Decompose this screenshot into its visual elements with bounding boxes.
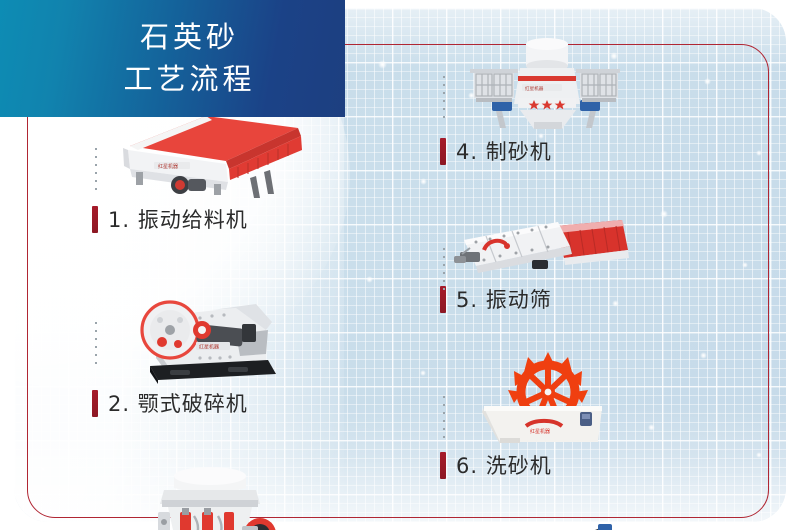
flow-step-5[interactable]: 5. 振动筛: [440, 210, 740, 316]
marker-bar-6: [440, 452, 446, 479]
flow-step-6-label: 6. 洗砂机: [440, 448, 740, 482]
connector-dots-2: [95, 322, 97, 368]
flow-step-1[interactable]: 红星机器 1. 振动给料机: [92, 110, 392, 236]
banner-title-line1: 石英砂: [140, 17, 239, 58]
flow-step-6-text: 6. 洗砂机: [456, 450, 552, 480]
title-banner: 石英砂 工艺流程: [0, 0, 345, 117]
flow-step-7[interactable]: 7. 输送机: [440, 522, 740, 530]
marker-bar-1: [92, 206, 98, 233]
flow-step-5-label: 5. 振动筛: [440, 282, 740, 316]
flow-step-3[interactable]: 3. 圆锥破碎机: [92, 466, 392, 530]
connector-dots-5: [443, 248, 445, 290]
connector-dots-6: [443, 396, 445, 438]
flow-step-2-text: 2. 颚式破碎机: [108, 388, 248, 418]
banner-title-line2: 工艺流程: [123, 59, 255, 100]
flow-step-4-label: 4. 制砂机: [440, 134, 740, 168]
jaw-crusher-icon: 红星机器: [92, 284, 392, 386]
svg-text:红星机器: 红星机器: [158, 163, 178, 170]
vibrating-feeder-icon: 红星机器: [92, 110, 392, 202]
belt-conveyor-icon: [440, 522, 740, 530]
flow-step-6[interactable]: 红星机器 6. 洗砂机: [440, 358, 740, 482]
flow-step-5-text: 5. 振动筛: [456, 284, 552, 314]
flowchart-poster: 红星机器 1. 振动给料机: [0, 0, 800, 530]
flow-step-4[interactable]: 红星机器: [440, 38, 740, 168]
left-flow-column: 红星机器 1. 振动给料机: [92, 110, 392, 530]
right-flow-column: 红星机器: [440, 38, 740, 530]
flow-step-4-text: 4. 制砂机: [456, 136, 552, 166]
flow-step-1-label: 1. 振动给料机: [92, 202, 392, 236]
sand-washing-machine-icon: 红星机器: [440, 358, 740, 448]
svg-text:红星机器: 红星机器: [530, 428, 550, 435]
svg-text:红星机器: 红星机器: [525, 85, 544, 92]
marker-bar-2: [92, 390, 98, 417]
flow-step-2[interactable]: 红星机器 2. 颚式破碎机: [92, 284, 392, 420]
sand-making-machine-icon: 红星机器: [440, 38, 740, 134]
flow-step-1-text: 1. 振动给料机: [108, 204, 248, 234]
vibrating-screen-icon: [440, 210, 740, 282]
marker-bar-4: [440, 138, 446, 165]
flow-step-2-label: 2. 颚式破碎机: [92, 386, 392, 420]
connector-dots-1: [95, 148, 97, 196]
svg-text:红星机器: 红星机器: [199, 344, 219, 351]
cone-crusher-icon: [92, 466, 392, 530]
connector-dots-4: [443, 76, 445, 118]
